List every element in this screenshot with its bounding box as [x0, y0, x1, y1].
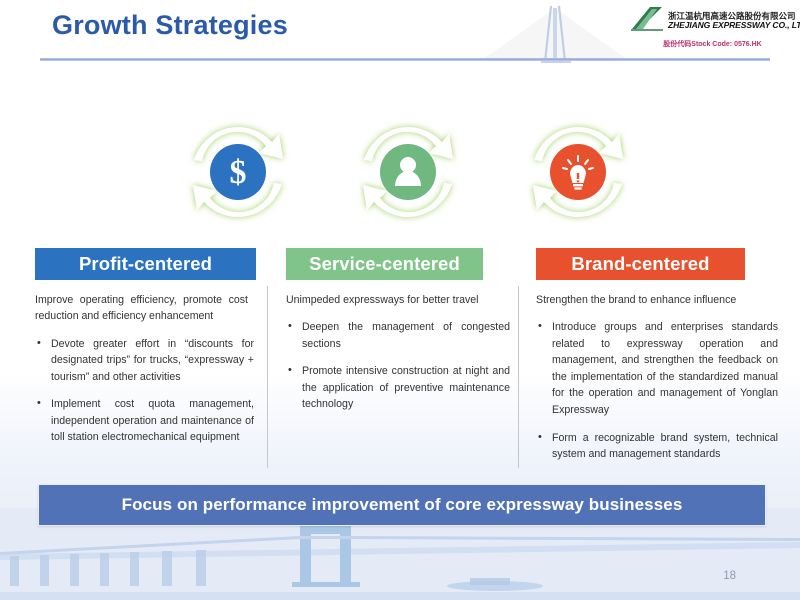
strategy-columns: Profit-centered Improve operating effici…: [35, 248, 775, 473]
slide-canvas: Growth Strategies 浙江温杭甩高速公路股份有限公司 ZHEJIA…: [0, 0, 800, 600]
list-item: Introduce groups and enterprises standar…: [536, 319, 778, 418]
column-service-centered: Service-centered Unimpeded expressways f…: [261, 248, 512, 473]
list-item: Form a recognizable brand system, techni…: [536, 430, 778, 463]
logo-stock-code: 股份代码Stock Code: 0576.HK: [630, 39, 795, 49]
header-divider: [40, 58, 770, 61]
list-item: Devote greater effort in “discounts for …: [35, 336, 254, 386]
list-item: Deepen the management of congested secti…: [286, 319, 510, 352]
company-logo: 浙江温杭甩高速公路股份有限公司 ZHEJIANG EXPRESSWAY CO.,…: [630, 5, 795, 51]
column-brand-centered: Brand-centered Strengthen the brand to e…: [512, 248, 775, 473]
logo-company-name-en: ZHEJIANG EXPRESSWAY CO., LTD.: [668, 21, 800, 30]
column-heading-profit: Profit-centered: [35, 248, 256, 280]
column-bullets-service: Deepen the management of congested secti…: [286, 319, 512, 413]
column-heading-brand: Brand-centered: [536, 248, 745, 280]
column-bullets-brand: Introduce groups and enterprises standar…: [536, 319, 775, 462]
svg-text:$: $: [230, 154, 247, 191]
column-lead-service: Unimpeded expressways for better travel: [286, 292, 502, 308]
list-item: Implement cost quota management, indepen…: [35, 396, 254, 446]
summary-banner-text: Focus on performance improvement of core…: [122, 495, 683, 515]
column-heading-service: Service-centered: [286, 248, 483, 280]
list-item: Promote intensive construction at night …: [286, 363, 510, 413]
page-number: 18: [723, 570, 736, 582]
page-title: Growth Strategies: [52, 10, 288, 41]
growth-cycle-diagram: $: [178, 100, 638, 245]
column-lead-profit: Improve operating efficiency, promote co…: [35, 292, 248, 325]
summary-banner: Focus on performance improvement of core…: [38, 484, 766, 526]
column-lead-brand: Strengthen the brand to enhance influenc…: [536, 292, 768, 308]
green-road-swoosh-icon: [630, 5, 664, 36]
column-profit-centered: Profit-centered Improve operating effici…: [35, 248, 261, 473]
column-bullets-profit: Devote greater effort in “discounts for …: [35, 336, 261, 446]
